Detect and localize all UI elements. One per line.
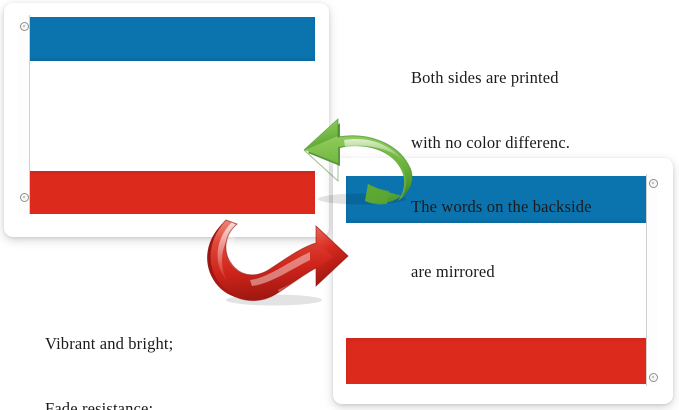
product-feature-image: Both sides are printed with no color dif… xyxy=(0,0,679,410)
caption-line: are mirrored xyxy=(411,261,592,283)
flag-front-red-stripe xyxy=(18,171,315,214)
flag-back-hoist-band xyxy=(646,174,658,386)
flag-front-grommet-bottom xyxy=(20,193,29,202)
caption-line: Both sides are printed xyxy=(411,67,592,89)
flag-front-blue-stripe xyxy=(18,17,315,61)
caption-both-sides-printed: Both sides are printed with no color dif… xyxy=(411,24,592,325)
caption-line: Vibrant and bright; xyxy=(45,333,224,355)
flag-back-grommet-top xyxy=(649,179,658,188)
flag-back-red-stripe xyxy=(346,338,658,384)
flag-front-card xyxy=(4,3,329,237)
flag-front-hoist-band xyxy=(18,15,30,214)
caption-line: with no color differenc. xyxy=(411,132,592,154)
caption-material-features: Vibrant and bright; Fade resistance; Dur… xyxy=(45,290,224,410)
flag-front-grommet-top xyxy=(20,22,29,31)
flag-front-field xyxy=(18,15,315,214)
flag-back-grommet-bottom xyxy=(649,373,658,382)
caption-line: Fade resistance; xyxy=(45,398,224,410)
caption-line: The words on the backside xyxy=(411,196,592,218)
